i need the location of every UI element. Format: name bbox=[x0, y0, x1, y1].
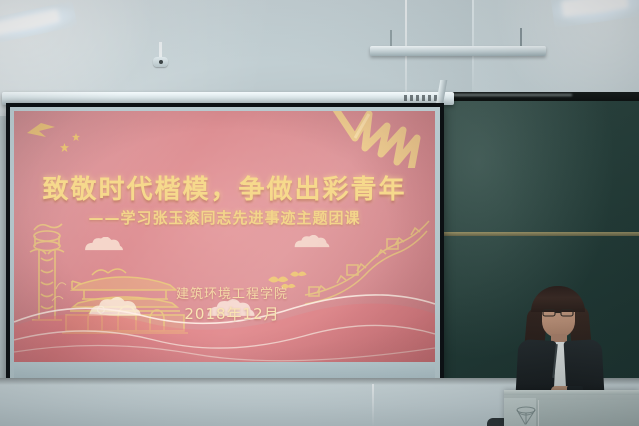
slide-subtitle: ——学习张玉滚同志先进事迹主题团课 bbox=[14, 207, 435, 228]
hanging-rod-right bbox=[520, 28, 522, 48]
screen-blank-strip bbox=[14, 362, 435, 378]
classroom-photo: 致敬时代楷模，争做出彩青年 ——学习张玉滚同志先进事迹主题团课 建筑环境工程学院… bbox=[0, 0, 639, 426]
ceiling-sensor-icon bbox=[153, 57, 168, 67]
podium-glyph-icon bbox=[513, 406, 539, 426]
slide-vignette bbox=[14, 111, 435, 362]
podium-top-surface bbox=[504, 390, 639, 395]
roller-label bbox=[404, 95, 438, 101]
presenter bbox=[511, 286, 607, 396]
slide-date: 2018年12月 bbox=[122, 303, 342, 324]
wall-seam-lower bbox=[372, 384, 374, 426]
slide-title: 致敬时代楷模，争做出彩青年 bbox=[14, 169, 435, 206]
podium-front-panel bbox=[538, 400, 639, 426]
hanging-rail bbox=[370, 46, 546, 56]
glasses-icon bbox=[542, 308, 575, 317]
chalkboard-top-highlight bbox=[452, 94, 572, 96]
chalkboard-middle-rail bbox=[443, 232, 639, 236]
presentation-slide: 致敬时代楷模，争做出彩青年 ——学习张玉滚同志先进事迹主题团课 建筑环境工程学院… bbox=[14, 111, 435, 362]
slide-organization: 建筑环境工程学院 bbox=[122, 283, 342, 302]
